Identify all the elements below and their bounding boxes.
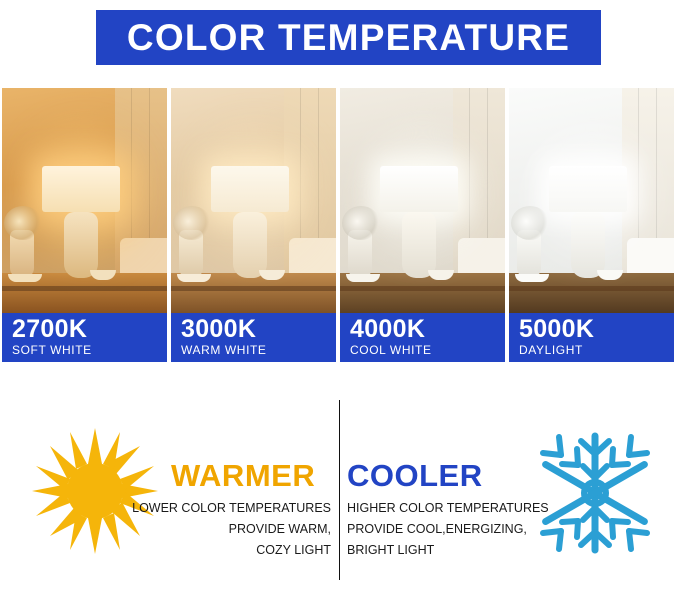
kelvin-value: 4000K — [350, 316, 505, 343]
plate — [177, 274, 211, 282]
label-4000k: 4000K COOL WHITE — [340, 313, 505, 362]
tone-name: WARM WHITE — [181, 343, 336, 357]
warmer-heading: WARMER — [171, 458, 315, 494]
lamp-base — [571, 212, 605, 278]
scene-4000k — [340, 88, 505, 313]
warm-cool-comparison: WARMER LOWER COLOR TEMPERATURES PROVIDE … — [0, 398, 679, 583]
label-3000k: 3000K WARM WHITE — [171, 313, 336, 362]
kelvin-value: 2700K — [12, 316, 167, 343]
warmer-section: WARMER LOWER COLOR TEMPERATURES PROVIDE … — [18, 412, 333, 572]
panel-4000k: 4000K COOL WHITE — [340, 88, 505, 362]
warmer-line-2: PROVIDE WARM, — [18, 519, 331, 540]
flowers — [173, 206, 211, 240]
panel-2700k: 2700K SOFT WHITE — [2, 88, 167, 362]
tone-name: DAYLIGHT — [519, 343, 674, 357]
kelvin-value: 5000K — [519, 316, 674, 343]
warmer-description: LOWER COLOR TEMPERATURES PROVIDE WARM, C… — [18, 498, 331, 561]
nightstand-edge — [171, 286, 336, 291]
color-temperature-infographic: COLOR TEMPERATURE 2700K SOFT WHITE — [0, 0, 679, 602]
lamp-base — [64, 212, 98, 278]
nightstand-edge — [340, 286, 505, 291]
plate — [515, 274, 549, 282]
scene-2700k — [2, 88, 167, 313]
lamp-base — [402, 212, 436, 278]
flowers — [342, 206, 380, 240]
panel-3000k: 3000K WARM WHITE — [171, 88, 336, 362]
vertical-divider — [339, 400, 340, 580]
snowflake-icon — [530, 428, 660, 558]
flowers — [4, 206, 42, 240]
panel-5000k: 5000K DAYLIGHT — [509, 88, 674, 362]
nightstand-edge — [509, 286, 674, 291]
plate — [8, 274, 42, 282]
scene-5000k — [509, 88, 674, 313]
warmer-line-3: COZY LIGHT — [18, 540, 331, 561]
warmer-line-1: LOWER COLOR TEMPERATURES — [18, 498, 331, 519]
kelvin-value: 3000K — [181, 316, 336, 343]
lamp-base — [233, 212, 267, 278]
lamp-shade — [42, 166, 120, 212]
flowers — [511, 206, 549, 240]
tone-name: SOFT WHITE — [12, 343, 167, 357]
lamp-shade — [380, 166, 458, 212]
label-5000k: 5000K DAYLIGHT — [509, 313, 674, 362]
cooler-section: COOLER HIGHER COLOR TEMPERATURES PROVIDE… — [345, 412, 660, 572]
temperature-panels: 2700K SOFT WHITE 3000K W — [2, 88, 677, 362]
lamp-shade — [549, 166, 627, 212]
page-title-bar: COLOR TEMPERATURE — [96, 10, 601, 65]
label-2700k: 2700K SOFT WHITE — [2, 313, 167, 362]
plate — [346, 274, 380, 282]
page-title: COLOR TEMPERATURE — [127, 19, 570, 56]
scene-3000k — [171, 88, 336, 313]
cooler-heading: COOLER — [347, 458, 483, 494]
nightstand-edge — [2, 286, 167, 291]
lamp-shade — [211, 166, 289, 212]
tone-name: COOL WHITE — [350, 343, 505, 357]
